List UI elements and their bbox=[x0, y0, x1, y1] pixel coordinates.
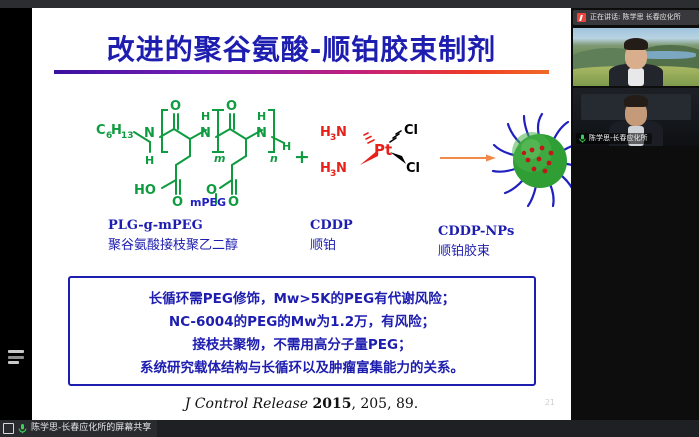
caption-cddp: CDDP 顺铂 bbox=[310, 218, 353, 253]
polymer-nh-left: N bbox=[144, 126, 155, 141]
cisplatin-chloride-bottom: Cl bbox=[406, 161, 420, 176]
polymer-acid-ho: HO bbox=[134, 183, 156, 198]
note-line: 长循环需PEG修饰，Mw>5K的PEG有代谢风险； bbox=[149, 287, 455, 307]
svg-text:H: H bbox=[145, 154, 154, 167]
caption-plg-g-mpeg: PLG-g-mPEG 聚谷氨酸接枝聚乙二醇 bbox=[108, 218, 238, 253]
note-line: 接枝共聚物，不需用高分子量PEG； bbox=[192, 333, 411, 353]
active-speaker-label: 正在讲话: 陈学思 长春应化所 bbox=[590, 13, 681, 22]
caption-zh: 顺铂胶束 bbox=[438, 240, 514, 259]
caption-zh: 顺铂 bbox=[310, 234, 353, 253]
caption-en: CDDP bbox=[310, 218, 353, 233]
participant-name: 陈学思-长春应化所 bbox=[589, 134, 648, 143]
layout-icon-bar bbox=[8, 361, 19, 364]
polymer-nh-right: N bbox=[256, 126, 267, 141]
caption-en: PLG-g-mPEG bbox=[108, 218, 238, 233]
note-line: NC-6004的PEG的Mw为1.2万，有风险； bbox=[169, 310, 435, 330]
scheme-captions: PLG-g-mPEG 聚谷氨酸接枝聚乙二醇 CDDP 顺铂 CDDP-NPs 顺… bbox=[32, 218, 571, 268]
note-line: 系统研究载体结构与长循环以及肿瘤富集能力的关系。 bbox=[140, 356, 464, 376]
svg-text:O: O bbox=[172, 195, 183, 210]
svg-text:N: N bbox=[336, 161, 347, 176]
presenter-avatar bbox=[607, 46, 665, 86]
meeting-app-window: 改进的聚谷氨酸-顺铂胶束制剂 bbox=[0, 0, 699, 437]
microphone-icon bbox=[579, 134, 586, 143]
microphone-icon bbox=[17, 423, 28, 434]
cisplatin-structure-diagram: H 3 N H 3 N Pt Cl Cl bbox=[320, 112, 438, 186]
polymer-structure-diagram: C 6 H 13 N H O N H O N H H m bbox=[94, 90, 306, 210]
slide-title: 改进的聚谷氨酸-顺铂胶束制剂 bbox=[32, 28, 571, 68]
svg-text:O: O bbox=[228, 195, 239, 210]
caption-en: CDDP-NPs bbox=[438, 224, 514, 239]
video-tile-presenter[interactable] bbox=[573, 28, 699, 86]
micelle-nanoparticle-diagram bbox=[484, 106, 571, 210]
layout-icon-bar bbox=[8, 356, 24, 359]
polymer-subscript-n: n bbox=[270, 152, 278, 165]
slide-page-number: 21 bbox=[545, 398, 555, 407]
reaction-scheme: C 6 H 13 N H O N H O N H H m bbox=[32, 88, 571, 216]
polymer-nh-mid: N bbox=[200, 126, 211, 141]
video-panel: 正在讲话: 陈学思 长春应化所 bbox=[573, 10, 699, 146]
share-status-text: 陈学思-长春应化所的屏幕共享 bbox=[31, 423, 151, 434]
shared-slide: 改进的聚谷氨酸-顺铂胶束制剂 bbox=[32, 8, 571, 420]
citation-year: 2015 bbox=[313, 396, 352, 412]
caption-cddp-nps: CDDP-NPs 顺铂胶束 bbox=[438, 224, 514, 259]
active-speaker-banner: 正在讲话: 陈学思 长春应化所 bbox=[573, 10, 699, 25]
title-divider bbox=[54, 70, 549, 74]
citation-journal: J Control Release bbox=[185, 396, 308, 412]
citation-rest: , 205, 89. bbox=[351, 396, 418, 412]
share-status-bar: 陈学思-长春应化所的屏幕共享 bbox=[0, 420, 699, 437]
polymer-terminal-h: H bbox=[282, 140, 291, 153]
layout-icon-bar bbox=[8, 350, 24, 353]
cisplatin-chloride-top: Cl bbox=[404, 123, 418, 138]
plus-sign: + bbox=[294, 146, 310, 168]
screen-share-icon bbox=[3, 423, 14, 434]
svg-text:H: H bbox=[257, 110, 266, 123]
share-status-chip[interactable]: 陈学思-长春应化所的屏幕共享 bbox=[0, 420, 157, 437]
svg-text:13: 13 bbox=[121, 131, 134, 141]
polymer-carbonyl-o: O bbox=[170, 99, 181, 114]
polymer-subscript-m: m bbox=[214, 152, 225, 165]
speaking-flag-icon bbox=[577, 13, 586, 22]
citation: J Control Release 2015, 205, 89. bbox=[32, 396, 571, 412]
video-tile-secondary[interactable]: 陈学思-长春应化所 bbox=[573, 88, 699, 146]
svg-text:H: H bbox=[201, 110, 210, 123]
participant-name-overlay: 陈学思-长春应化所 bbox=[576, 133, 652, 144]
app-top-bar bbox=[0, 0, 699, 8]
key-points-box: 长循环需PEG修饰，Mw>5K的PEG有代谢风险； NC-6004的PEG的Mw… bbox=[68, 276, 536, 386]
caption-zh: 聚谷氨酸接枝聚乙二醇 bbox=[108, 234, 238, 253]
svg-text:N: N bbox=[336, 125, 347, 140]
cisplatin-metal: Pt bbox=[374, 141, 392, 159]
svg-text:O: O bbox=[226, 99, 237, 114]
mpeg-label: mPEG bbox=[190, 196, 226, 209]
polymer-end-group: C bbox=[96, 123, 106, 138]
layout-list-icon[interactable] bbox=[8, 350, 24, 364]
